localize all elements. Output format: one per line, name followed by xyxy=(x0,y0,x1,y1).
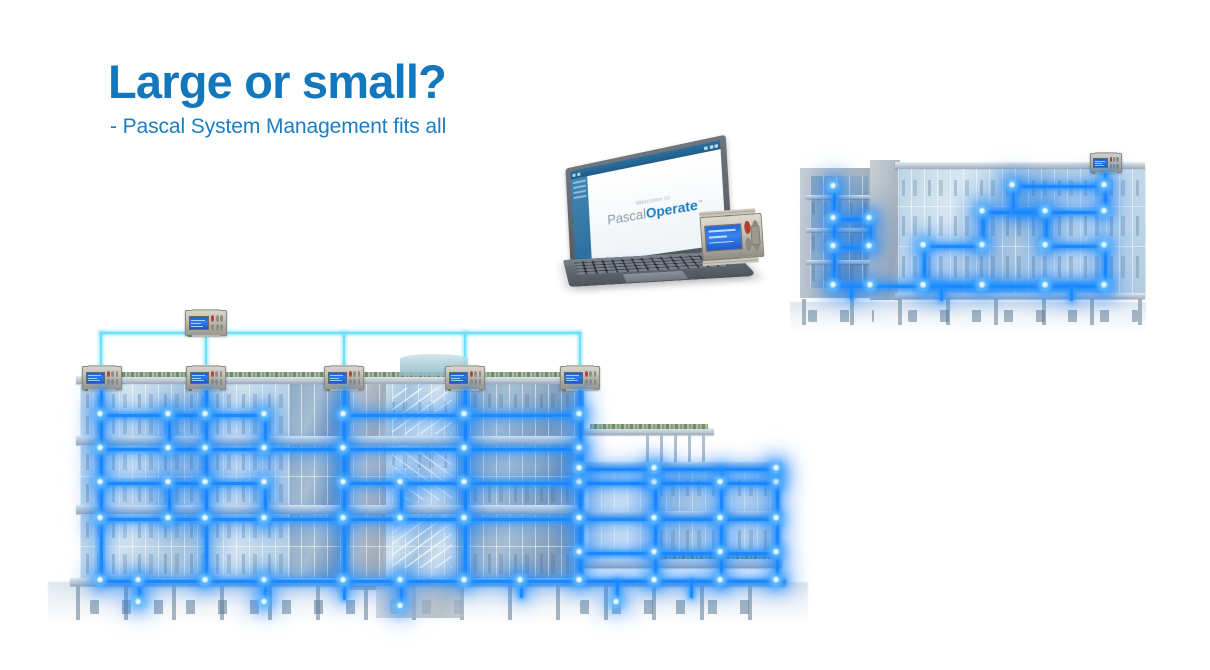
controller-keypad[interactable] xyxy=(470,371,482,385)
controller-terminal xyxy=(327,389,333,391)
office-interior xyxy=(660,530,778,550)
office-interior xyxy=(86,484,284,502)
controller-keypad[interactable] xyxy=(211,371,223,385)
pascal-controller[interactable] xyxy=(324,366,364,390)
controller-terminal xyxy=(1093,172,1098,174)
controller-keypad[interactable] xyxy=(107,371,119,385)
tower-slab xyxy=(806,195,872,199)
office-interior xyxy=(86,394,284,408)
controller-lcd xyxy=(86,372,106,384)
laptop[interactable]: Welcome to PascalOperate™ xyxy=(563,168,763,320)
floor-slab xyxy=(76,436,584,445)
atrium-stair xyxy=(392,388,452,434)
controller-lcd xyxy=(1093,158,1108,168)
controller-lcd xyxy=(190,372,210,384)
controller-terminal xyxy=(85,389,91,391)
page-title: Large or small? xyxy=(108,58,446,106)
entrance-lobby xyxy=(376,586,464,618)
page-subtitle: - Pascal System Management fits all xyxy=(110,115,446,139)
pascal-controller[interactable] xyxy=(445,366,485,390)
ground-planters xyxy=(90,600,360,614)
sidebar-nav-icon xyxy=(572,172,579,176)
controller-lcd xyxy=(704,224,742,252)
brand-primary: Pascal xyxy=(607,206,646,227)
controller-lcd xyxy=(449,372,469,384)
slide-canvas: Large or small? - Pascal System Manageme… xyxy=(0,0,1210,670)
canopy-slab xyxy=(584,428,714,435)
canopy-columns xyxy=(646,435,708,463)
controller-keypad[interactable] xyxy=(349,371,361,385)
large-building xyxy=(60,318,800,648)
headline-block: Large or small? - Pascal System Manageme… xyxy=(108,58,446,139)
window-controls-icon[interactable] xyxy=(704,144,718,150)
ground-planters xyxy=(580,600,770,614)
office-interior xyxy=(86,416,284,434)
pascal-controller[interactable] xyxy=(186,366,226,390)
tower-interior xyxy=(812,202,866,214)
ground-planters xyxy=(908,310,1138,322)
controller-navpad[interactable] xyxy=(750,225,760,246)
office-interior xyxy=(86,554,284,574)
pascal-controller[interactable] xyxy=(560,366,600,390)
controller-terminal xyxy=(448,389,454,391)
pascal-controller[interactable] xyxy=(82,366,122,390)
office-interior xyxy=(462,554,580,574)
office-interior xyxy=(462,484,580,502)
controller-keypad[interactable] xyxy=(1110,157,1119,168)
service-core xyxy=(870,160,900,300)
floor-line xyxy=(898,206,1146,207)
controller-lcd xyxy=(564,372,584,384)
controller-keypad[interactable] xyxy=(211,315,223,330)
office-interior xyxy=(902,216,1142,236)
office-interior xyxy=(86,522,284,538)
wing-floor-slab xyxy=(584,559,782,568)
controller-keypad[interactable] xyxy=(585,371,597,385)
small-building xyxy=(790,150,1150,350)
device-body xyxy=(700,213,765,261)
pascal-controller[interactable] xyxy=(700,213,765,261)
controller-lcd xyxy=(189,316,210,330)
atrium-stair xyxy=(392,516,452,568)
office-interior xyxy=(86,454,284,470)
canopy-planting xyxy=(590,424,708,429)
laptop-trackpad[interactable] xyxy=(622,270,690,283)
office-interior xyxy=(462,394,580,408)
floor-line xyxy=(80,476,584,477)
pascal-controller[interactable] xyxy=(1090,153,1122,173)
floor-line xyxy=(80,546,584,547)
tower-slab xyxy=(806,260,872,264)
master-pascal-controller[interactable] xyxy=(185,310,227,336)
tower-slab xyxy=(806,228,872,232)
controller-lcd xyxy=(328,372,348,384)
tower-interior xyxy=(812,265,866,281)
ground-planters xyxy=(808,310,874,322)
controller-terminal xyxy=(188,335,194,337)
trademark-symbol: ™ xyxy=(697,199,702,205)
controller-terminal xyxy=(189,389,195,391)
controller-terminal xyxy=(563,389,569,391)
floor-slab xyxy=(76,505,584,514)
